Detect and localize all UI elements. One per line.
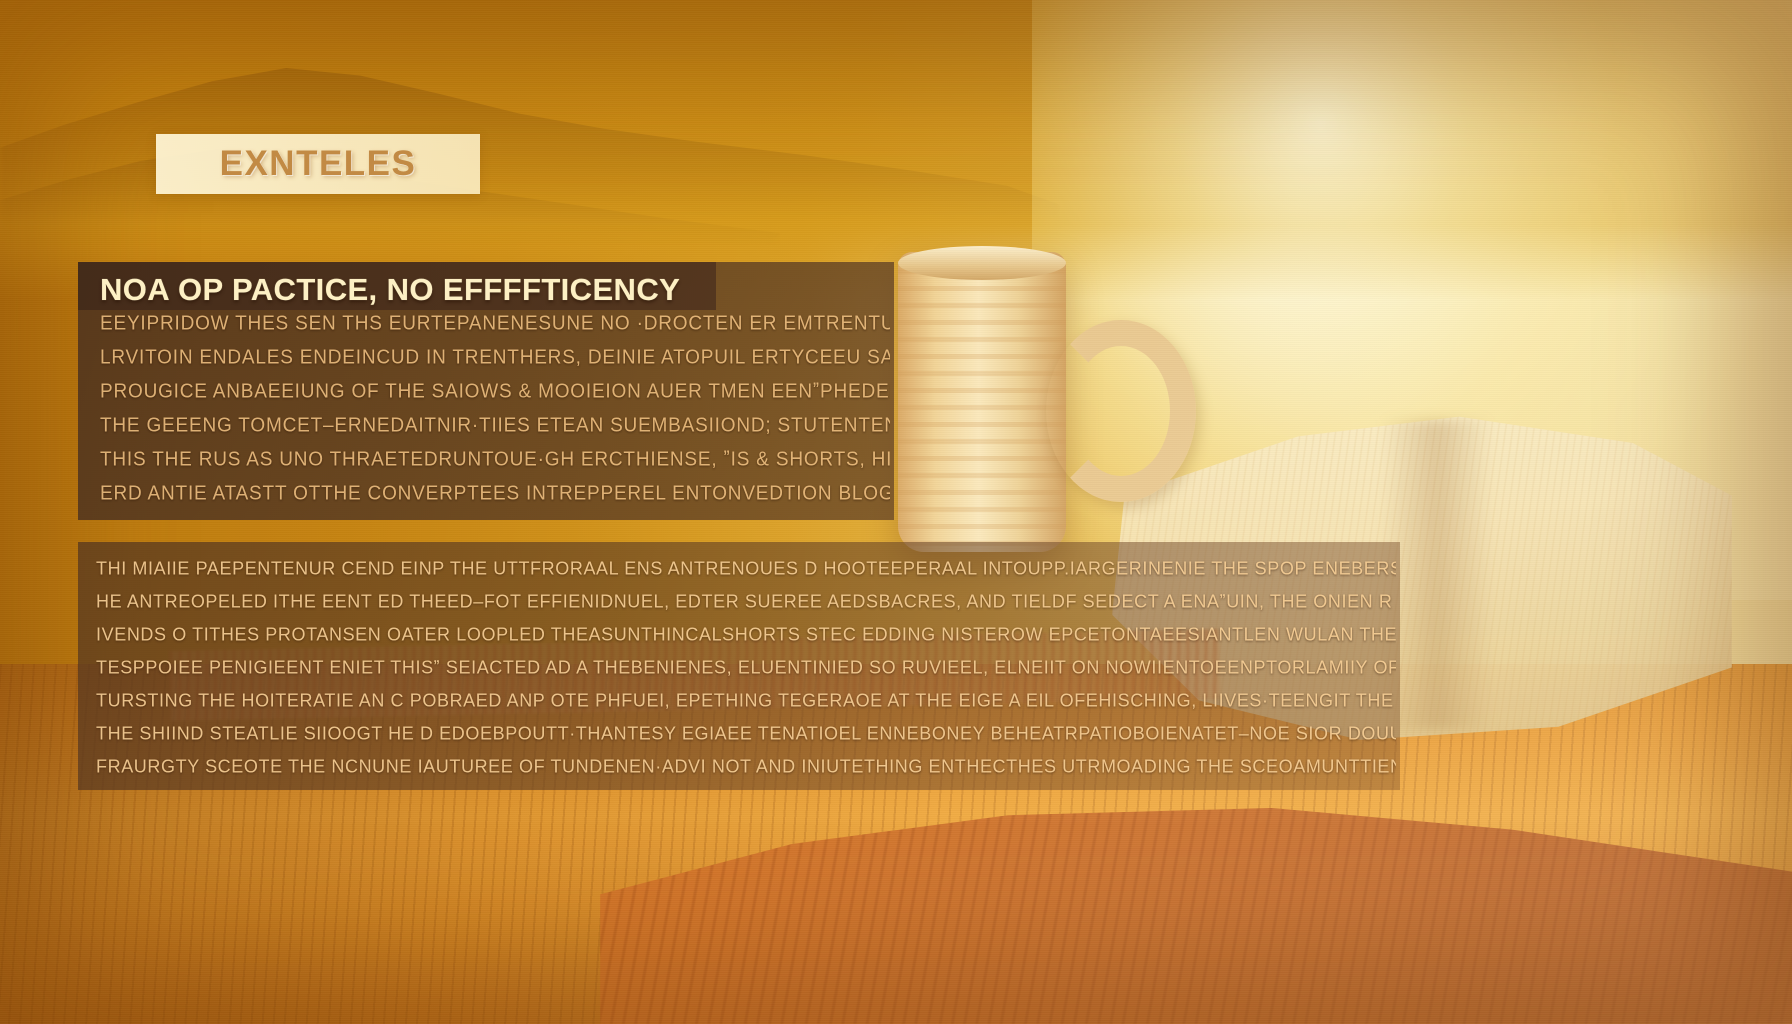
screenshot-root: EXNTELES NOA OP PACTICE, NO EFFFFTICENCY… bbox=[0, 0, 1792, 1024]
body-line: TURSTING THE HOITERATIE AN C POBRAED ANP… bbox=[96, 689, 1396, 711]
body-line: TESPPOIEE PENIGIEENT ENIET THISˮ SEIACTE… bbox=[96, 656, 1396, 678]
secondary-body-text: THI MIAIIE PAEPENTENUR CEND EINP THE UTT… bbox=[96, 558, 1396, 789]
body-line: IVENDS O TITHES PROTANSEN OATER LOOPLED … bbox=[96, 623, 1396, 645]
primary-body-text: EEYIPRIDOW THES SEN THS EURTEPANENESUNE … bbox=[100, 313, 890, 517]
text-overlay-layer: EXNTELES NOA OP PACTICE, NO EFFFFTICENCY… bbox=[0, 0, 1792, 1024]
body-line: LRVITOIN ENDALES ENDEINCUD IN TRENTHERS,… bbox=[100, 346, 890, 369]
body-line: THI MIAIIE PAEPENTENUR CEND EINP THE UTT… bbox=[96, 557, 1396, 579]
body-line: PROUGICE ANBAEEIUNG OF THE SAIOWS & MOOI… bbox=[100, 380, 890, 403]
body-line: THE SHIIND STEATLIE SIIOOGT HE D EDOEBPO… bbox=[96, 722, 1396, 744]
title-banner-label: EXNTELES bbox=[220, 144, 417, 184]
body-line: THE GEEENG TOMCET–ERNEDAITNIR·TIIES ETEA… bbox=[100, 414, 890, 437]
body-line: HE ANTREOPELED ITHE EENT ED THEED–FOT EF… bbox=[96, 590, 1396, 612]
body-line: EEYIPRIDOW THES SEN THS EURTEPANENESUNE … bbox=[100, 312, 890, 335]
body-line: THIS THE RUS AS UNO THRAETEDRUNTOUE·GH E… bbox=[100, 448, 890, 471]
title-banner: EXNTELES bbox=[156, 134, 480, 194]
body-line: ERD ANTIE ATASTT OTTHE CONVERPTEES INTRE… bbox=[100, 482, 890, 505]
body-line: FRAURGTY SCEOTE THE NCNUNE IAUTUREE OF T… bbox=[96, 755, 1396, 777]
headline-text: NOA OP PACTICE, NO EFFFFTICENCY bbox=[100, 272, 680, 308]
